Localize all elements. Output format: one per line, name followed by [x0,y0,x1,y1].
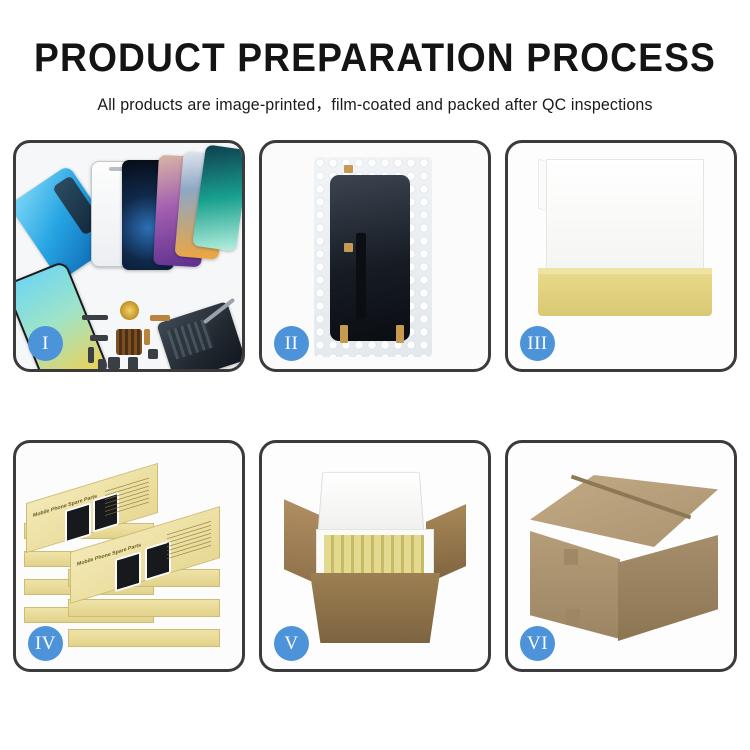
process-step-3[interactable]: III [505,140,737,372]
step-badge-2: II [274,326,309,361]
process-step-6[interactable]: VI [505,440,737,672]
step-badge-6: VI [520,626,555,661]
stacked-box-right-2 [68,599,220,617]
carton-body [310,573,440,643]
box-front-wall [538,274,712,316]
process-step-grid: I II III [13,140,737,672]
flex-connector-right [396,325,404,343]
page-header: PRODUCT PREPARATION PROCESS All products… [0,0,750,115]
stacked-box-right-3 [68,629,220,647]
foam-lid-open [318,472,425,533]
process-step-1[interactable]: I [13,140,245,372]
packed-yellow-boxes [324,535,424,575]
step-badge-1: I [28,326,63,361]
carton-right-face [618,535,718,641]
page-title: PRODUCT PREPARATION PROCESS [26,38,724,78]
tape-tab-top [344,165,353,173]
tape-tab-mid [344,243,353,252]
connector-2 [88,347,94,363]
flex-connector-left [340,325,348,343]
carton-tape-patch-bottom [566,609,580,625]
flex-cable-2 [144,329,150,345]
box-spec-lines-1 [105,477,149,516]
process-step-4[interactable]: Mobile Phone Spare Parts Mobile Phone Sp… [13,440,245,672]
step-badge-4: IV [28,626,63,661]
chip-component [116,329,142,355]
sim-tray [98,359,106,369]
screw-set [148,349,158,359]
vibrator-module [128,357,138,369]
carton-tape-patch-top [564,549,578,565]
foam-lid-panel [546,159,704,277]
box-stack: Mobile Phone Spare Parts Mobile Phone Sp… [24,465,234,655]
process-step-5[interactable]: V [259,440,491,672]
process-step-2[interactable]: II [259,140,491,372]
phone-back-housing [156,301,242,369]
box-spec-lines-2 [167,520,211,559]
step-badge-5: V [274,626,309,661]
flex-strip-1 [82,315,108,320]
lcd-screen-assembly [330,175,410,341]
page-subtitle: All products are image-printed，film-coat… [11,91,739,115]
camera-module [108,357,120,369]
step-badge-3: III [520,326,555,361]
bubble-wrap-bag [314,157,432,357]
flex-cable-1 [150,315,170,321]
carton-top-face [530,475,718,547]
speaker-component [120,301,139,320]
connector-1 [90,335,108,341]
